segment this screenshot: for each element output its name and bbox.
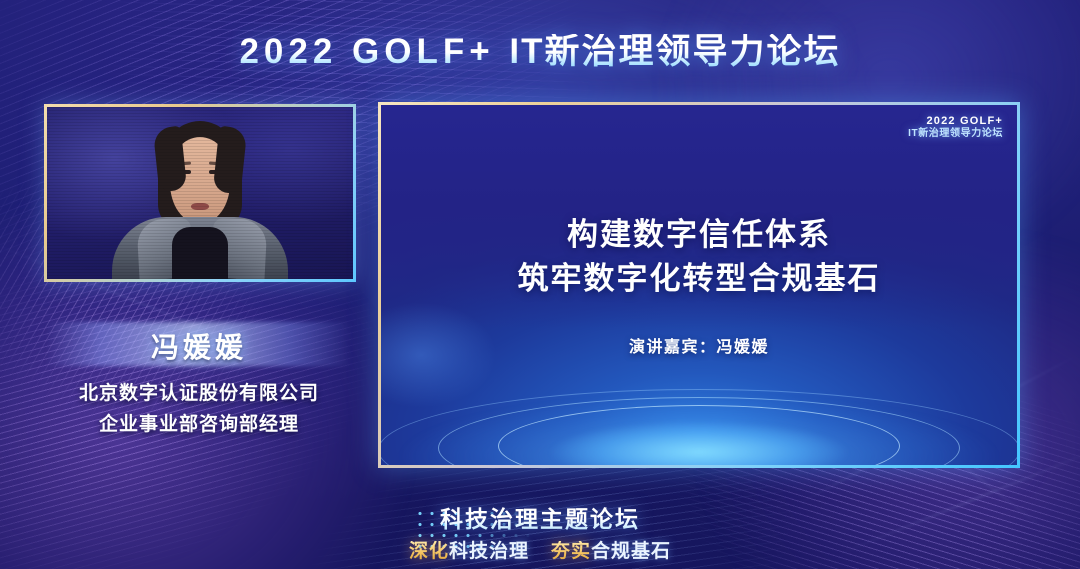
footer-tagline-gold-2: 夯实 — [551, 541, 591, 562]
speaker-video-panel[interactable] — [44, 104, 356, 282]
footer-tagline: 深化科技治理夯实合规基石 — [0, 536, 1080, 563]
event-title-latin: 2022 GOLF+ — [239, 32, 509, 71]
slide-subtitle: 演讲嘉宾：冯媛媛 — [381, 333, 1017, 357]
event-title: 2022 GOLF+ IT新治理领导力论坛 — [0, 34, 1080, 69]
footer-tagline-white-2: 合规基石 — [591, 541, 671, 562]
speaker-video-frame — [47, 107, 353, 279]
presentation-slide-panel[interactable]: 2022 GOLF+ IT新治理领导力论坛 构建数字信任体系 筑牢数字化转型合规… — [378, 102, 1020, 468]
slide-watermark-logo: 2022 GOLF+ IT新治理领导力论坛 — [908, 115, 1003, 139]
slide-watermark-line1: 2022 GOLF+ — [908, 115, 1003, 128]
footer-forum-title: 科技治理主题论坛 — [0, 500, 1080, 534]
event-title-cjk: IT新治理领导力论坛 — [509, 32, 840, 71]
slide-title: 构建数字信任体系 筑牢数字化转型合规基石 — [381, 213, 1017, 301]
footer-tagline-white-1: 科技治理 — [449, 541, 529, 562]
speaker-role: 企业事业部咨询部经理 — [26, 409, 372, 436]
slide-watermark-line2: IT新治理领导力论坛 — [908, 128, 1003, 140]
footer-tagline-gold-1: 深化 — [409, 541, 449, 562]
speaker-organization: 北京数字认证股份有限公司 — [26, 378, 372, 405]
slide-title-line1: 构建数字信任体系 — [381, 213, 1017, 257]
slide-content: 2022 GOLF+ IT新治理领导力论坛 构建数字信任体系 筑牢数字化转型合规… — [381, 105, 1017, 465]
slide-title-line2: 筑牢数字化转型合规基石 — [381, 257, 1017, 301]
speaker-name: 冯媛媛 — [46, 326, 352, 366]
presentation-broadcast-screen: 2022 GOLF+ IT新治理领导力论坛 — [0, 0, 1080, 569]
video-scanline-overlay — [47, 107, 353, 279]
